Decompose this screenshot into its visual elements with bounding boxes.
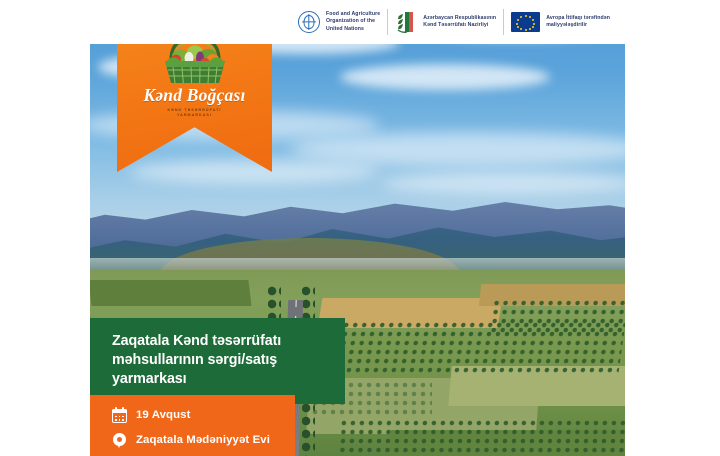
calendar-icon: [112, 407, 127, 423]
fao-emblem-icon: [298, 11, 320, 33]
event-venue-row: Zaqatala Mədəniyyət Evi: [112, 429, 295, 451]
event-title-block: Zaqatala Kənd təsərrüfatı məhsullarının …: [90, 318, 345, 404]
cloud-shape: [130, 160, 380, 184]
location-pin-icon: [112, 432, 127, 448]
eu-flag-icon: [511, 12, 540, 32]
poster-root: Food and Agriculture Organization of the…: [0, 0, 720, 456]
partner-logo-ministry-text: Azərbaycan Respublikasının Kənd Təsərrüf…: [423, 15, 496, 29]
event-venue-label: Zaqatala Mədəniyyət Evi: [136, 434, 270, 446]
partner-logo-ministry: Azərbaycan Respublikasının Kənd Təsərrüf…: [388, 10, 503, 34]
orchard-block: [490, 300, 625, 336]
event-details-bar: 19 Avqust Zaqatala Mədəniyyət Evi: [90, 395, 295, 456]
partner-logo-bar: Food and Agriculture Organization of the…: [90, 0, 625, 44]
event-date-row: 19 Avqust: [112, 404, 295, 426]
orchard-block: [339, 420, 625, 456]
event-date-label: 19 Avqust: [136, 409, 191, 421]
partner-logo-fao-text: Food and Agriculture Organization of the…: [326, 11, 380, 32]
cloud-shape: [380, 172, 625, 194]
field-patch: [90, 280, 252, 306]
cloud-shape: [340, 64, 550, 90]
partner-logo-eu-text: Avropa İttifaqı tərəfindən maliyyələşdir…: [546, 15, 610, 29]
event-poster: Food and Agriculture Organization of the…: [90, 0, 625, 456]
event-title: Zaqatala Kənd təsərrüfatı məhsullarının …: [112, 332, 327, 389]
wheat-ear-icon: [395, 10, 417, 34]
partner-logo-eu: Avropa İttifaqı tərəfindən maliyyələşdir…: [504, 12, 617, 32]
partner-logo-fao: Food and Agriculture Organization of the…: [291, 11, 387, 33]
